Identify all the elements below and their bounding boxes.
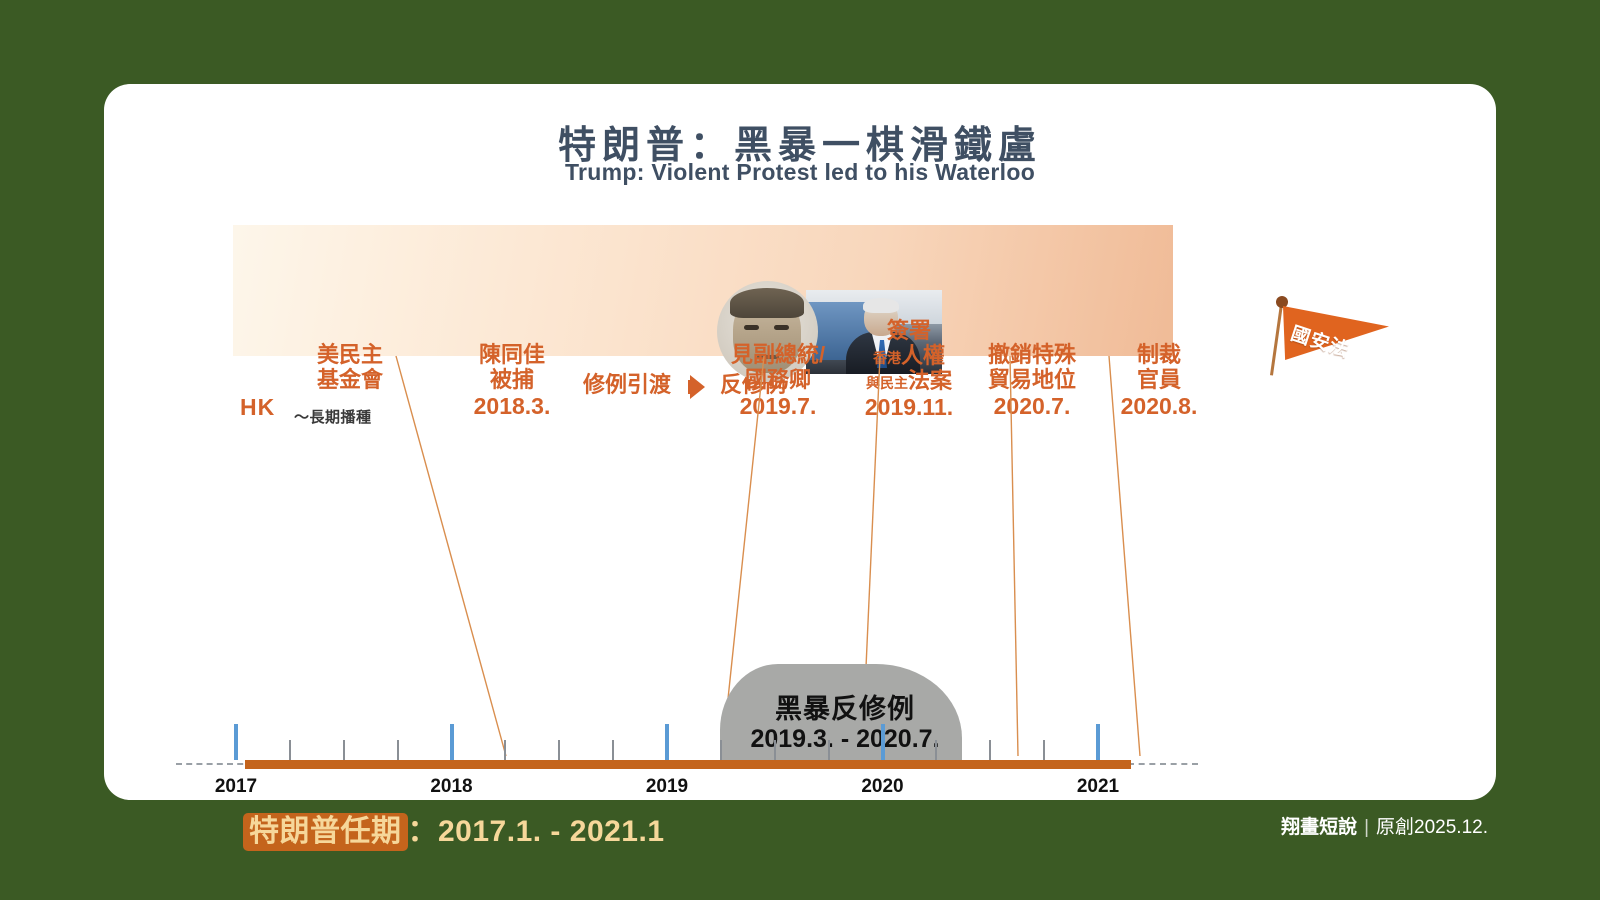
axis-year-label: 2017 — [215, 776, 257, 798]
event-line3-small: 與民主 — [866, 375, 908, 391]
photo-hair — [863, 298, 899, 313]
portrait-hair — [730, 288, 804, 318]
event-line1: 撤銷特殊 — [960, 342, 1104, 367]
blob-title: 黑暴反修例 — [720, 694, 970, 725]
flag-pole — [1270, 304, 1283, 376]
axis-minor-tick — [558, 740, 560, 760]
event-line2: 修例引渡 — [566, 372, 688, 397]
axis-minor-tick — [504, 740, 506, 760]
axis-minor-tick — [1043, 740, 1045, 760]
axis-year-tick — [450, 724, 454, 760]
credit: 翔畫短說|原創2025.12. — [1281, 812, 1488, 839]
term-bar — [245, 760, 1131, 769]
axis-year-label: 2021 — [1077, 776, 1119, 798]
portrait-eye-right — [774, 325, 789, 330]
axis-year-tick — [881, 724, 885, 760]
violent-protest-period-label: 黑暴反修例 2019.3. - 2020.7. — [720, 694, 970, 753]
axis-minor-tick — [289, 740, 291, 760]
event-line2: 貿易地位 — [960, 367, 1104, 392]
event-us-democracy-fund: 美民主 基金會 — [292, 342, 408, 392]
axis-year-label: 2020 — [861, 776, 903, 798]
event-extradition-amendment: 修例引渡 — [566, 372, 688, 397]
event-line2: 官員 — [1104, 367, 1214, 392]
event-date: 2020.7. — [960, 393, 1104, 419]
infographic-card: 特朗普：黑暴一棋滑鐵盧 Trump: Violent Protest led t… — [104, 84, 1496, 800]
event-line2: 被捕 — [454, 367, 570, 392]
axis-year-tick — [1096, 724, 1100, 760]
axis-year-tick — [665, 724, 669, 760]
axis-minor-tick — [397, 740, 399, 760]
term-caption-highlight: 特朗普任期 — [243, 813, 408, 851]
credit-source: 原創2025.12. — [1376, 817, 1488, 838]
axis-minor-tick — [343, 740, 345, 760]
axis-minor-tick — [774, 740, 776, 760]
axis-minor-tick — [989, 740, 991, 760]
axis-year-tick — [234, 724, 238, 760]
event-line1: 制裁 — [1104, 342, 1214, 367]
event-date: 2020.8. — [1104, 393, 1214, 419]
credit-separator: | — [1364, 817, 1369, 838]
term-caption: 特朗普任期：2017.1. - 2021.1 — [243, 806, 665, 850]
portrait-eye-left — [744, 325, 759, 330]
event-line1: 簽署 — [834, 318, 984, 343]
axis-year-label: 2019 — [646, 776, 688, 798]
hk-events-banner — [233, 225, 1173, 356]
term-caption-range: 2017.1. - 2021.1 — [438, 815, 665, 848]
event-sanction-officials: 制裁 官員 2020.8. — [1104, 342, 1214, 419]
event-line1: 美民主 — [292, 342, 408, 367]
flag-knob-icon — [1276, 296, 1288, 308]
axis-minor-tick — [828, 740, 830, 760]
event-line3-big: 法案 — [908, 368, 952, 393]
axis-minor-tick — [935, 740, 937, 760]
event-line2-big: 人權 — [901, 343, 945, 368]
axis-year-label: 2018 — [430, 776, 472, 798]
axis-minor-tick — [720, 740, 722, 760]
page-subtitle: Trump: Violent Protest led to his Waterl… — [104, 159, 1496, 186]
event-date: 2018.3. — [454, 393, 570, 419]
region-label-hk: HK — [240, 394, 275, 421]
axis-minor-tick — [612, 740, 614, 760]
event-line2-small: 香港 — [873, 350, 901, 366]
blob-range: 2019.3. - 2020.7. — [720, 725, 970, 754]
event-chan-tong-kai-arrest: 陳同佳 被捕 2018.3. — [454, 342, 570, 419]
axis-dashed-right — [1128, 763, 1198, 765]
event-note-long-term: ～長期播種 — [294, 406, 372, 427]
term-caption-colon: ： — [408, 815, 439, 848]
event-line2: 基金會 — [292, 367, 408, 392]
event-revoke-special-trade-status: 撤銷特殊 貿易地位 2020.7. — [960, 342, 1104, 419]
credit-author: 翔畫短說 — [1281, 817, 1357, 838]
event-line1: 陳同佳 — [454, 342, 570, 367]
